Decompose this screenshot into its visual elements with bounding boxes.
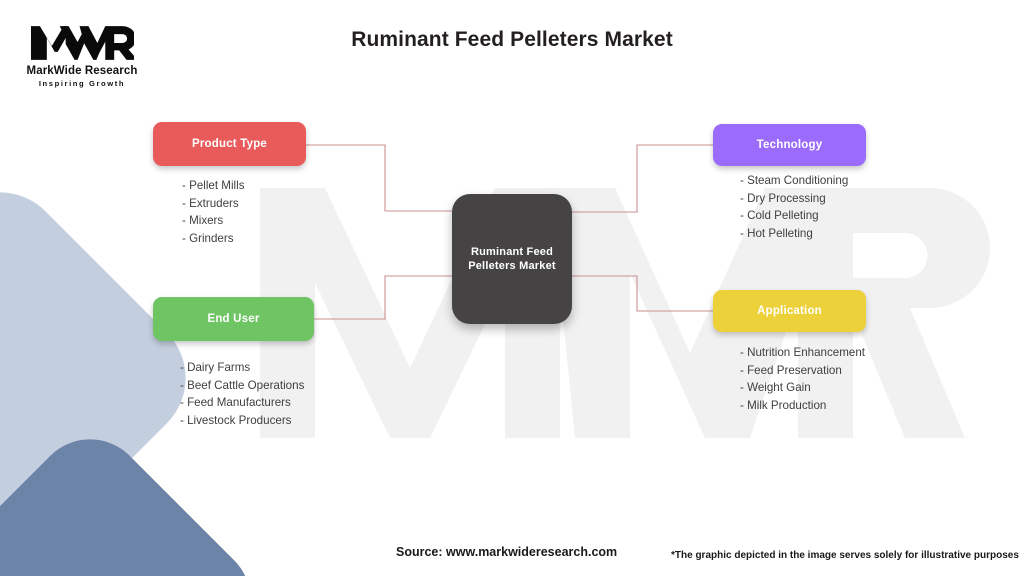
list-item: - Dry Processing xyxy=(740,190,848,208)
node-product-type[interactable]: Product Type xyxy=(153,122,306,166)
list-item: - Milk Production xyxy=(740,397,865,415)
logo-company-name: MarkWide Research xyxy=(22,65,142,77)
list-item: - Feed Manufacturers xyxy=(180,394,304,412)
list-item: - Feed Preservation xyxy=(740,362,865,380)
node-technology-label: Technology xyxy=(757,139,823,151)
list-item: - Extruders xyxy=(182,195,245,213)
list-end-user: - Dairy Farms - Beef Cattle Operations -… xyxy=(180,359,304,429)
node-product-type-label: Product Type xyxy=(192,138,267,150)
center-node-line2: Pelleters Market xyxy=(468,259,556,273)
list-item: - Steam Conditioning xyxy=(740,172,848,190)
list-item: - Hot Pelleting xyxy=(740,225,848,243)
connector-application xyxy=(572,276,713,311)
diagram-canvas: MarkWide Research Inspiring Growth Rumin… xyxy=(0,0,1024,576)
list-application: - Nutrition Enhancement - Feed Preservat… xyxy=(740,344,865,414)
center-node-line1: Ruminant Feed xyxy=(468,245,556,259)
list-technology: - Steam Conditioning - Dry Processing - … xyxy=(740,172,848,242)
node-application-label: Application xyxy=(757,305,822,317)
node-end-user[interactable]: End User xyxy=(153,297,314,341)
list-item: - Beef Cattle Operations xyxy=(180,377,304,395)
source-text: Source: www.markwideresearch.com xyxy=(396,545,617,559)
connector-end-user xyxy=(314,276,452,319)
logo-tagline: Inspiring Growth xyxy=(22,79,142,88)
node-technology[interactable]: Technology xyxy=(713,124,866,166)
disclaimer-text: *The graphic depicted in the image serve… xyxy=(671,550,1019,561)
node-end-user-label: End User xyxy=(207,313,259,325)
list-product-type: - Pellet Mills - Extruders - Mixers - Gr… xyxy=(182,177,245,247)
page-title: Ruminant Feed Pelleters Market xyxy=(0,28,1024,52)
list-item: - Cold Pelleting xyxy=(740,207,848,225)
node-application[interactable]: Application xyxy=(713,290,866,332)
list-item: - Livestock Producers xyxy=(180,412,304,430)
connector-technology xyxy=(572,145,713,212)
list-item: - Grinders xyxy=(182,230,245,248)
list-item: - Dairy Farms xyxy=(180,359,304,377)
list-item: - Pellet Mills xyxy=(182,177,245,195)
list-item: - Mixers xyxy=(182,212,245,230)
list-item: - Nutrition Enhancement xyxy=(740,344,865,362)
center-node[interactable]: Ruminant Feed Pelleters Market xyxy=(452,194,572,324)
connector-product-type xyxy=(306,145,452,211)
list-item: - Weight Gain xyxy=(740,379,865,397)
